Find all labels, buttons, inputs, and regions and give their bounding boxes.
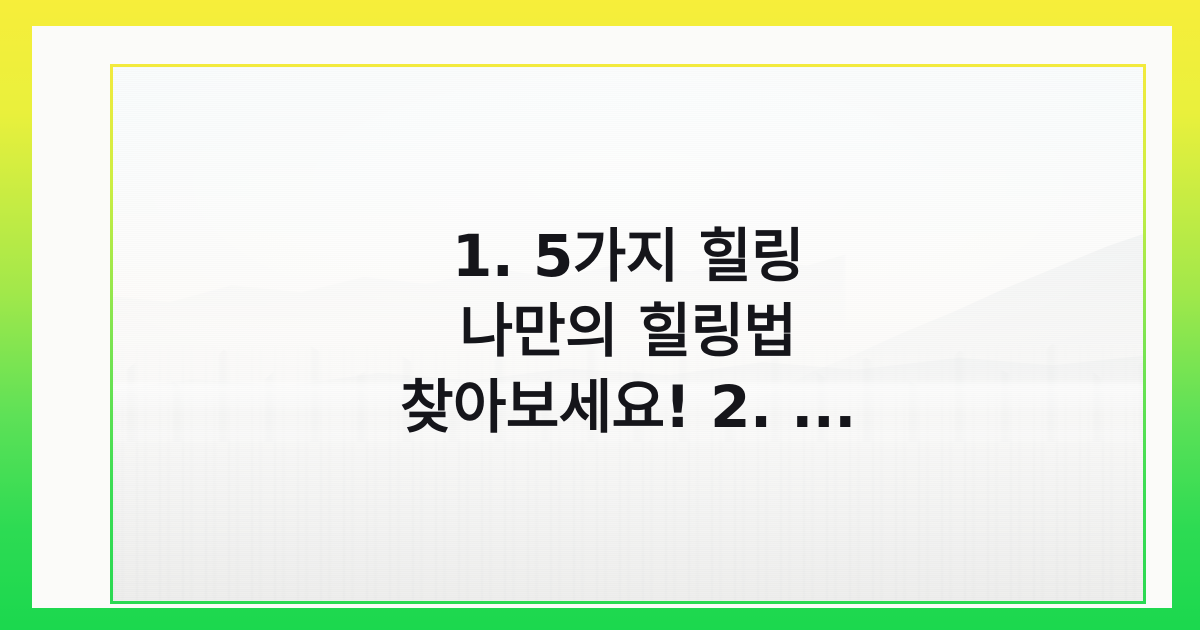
headline-line-1: 1. 5가지 힐링 bbox=[452, 219, 804, 294]
thumbnail-card: 1. 5가지 힐링 나만의 힐링법 찾아보세요! 2. ... bbox=[0, 0, 1200, 630]
headline-block: 1. 5가지 힐링 나만의 힐링법 찾아보세요! 2. ... bbox=[110, 64, 1146, 604]
photo-frame: 1. 5가지 힐링 나만의 힐링법 찾아보세요! 2. ... bbox=[110, 64, 1146, 604]
headline-line-2: 나만의 힐링법 bbox=[460, 294, 797, 369]
headline-line-3: 찾아보세요! 2. ... bbox=[400, 370, 856, 445]
inner-mat: 1. 5가지 힐링 나만의 힐링법 찾아보세요! 2. ... bbox=[32, 26, 1172, 608]
